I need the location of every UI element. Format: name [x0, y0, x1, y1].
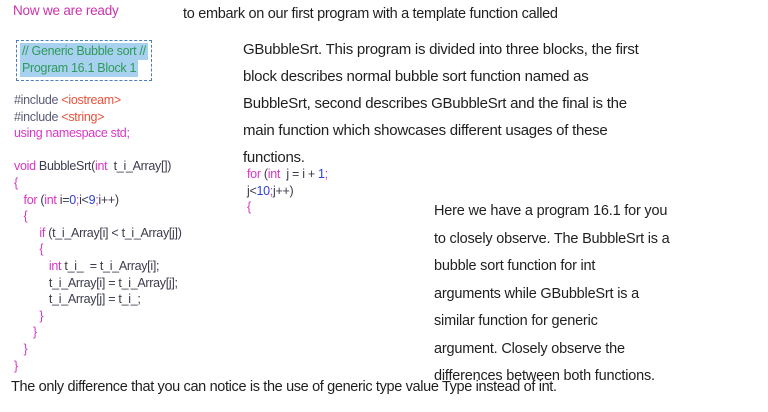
code-token-for-inner-incr: j++) [273, 184, 293, 198]
code-token-for-inner-ten: 10 [256, 184, 269, 198]
code-token-swap-int: int [49, 259, 61, 273]
code-token-for-outer-zero: 0 [69, 193, 76, 207]
code-token-for-outer-incr: i++) [98, 193, 118, 207]
paragraph-observe-line-6: argument. Closely observe the [434, 336, 759, 364]
code-token-include2-keyword: #include [14, 110, 58, 124]
paragraph-observe-line-1: Here we have a program 16.1 for you [434, 198, 759, 226]
code-token-brace-close-4: } [14, 359, 18, 373]
code-token-using-namespace: using namespace std [14, 126, 126, 140]
code-token-void: void [14, 159, 36, 173]
code-token-brace-close-3: } [24, 342, 28, 356]
paragraph-program-blocks: GBubbleSrt. This program is divided into… [243, 36, 759, 171]
code-token-swap-line-1: t_i_ = t_i_Array[i]; [61, 259, 159, 273]
code-comment-selection-box[interactable]: // Generic Bubble sort // Program 16.1 B… [16, 40, 152, 81]
paragraph-blocks-line-1: GBubbleSrt. This program is divided into… [243, 36, 759, 63]
code-token-brace-open-if: { [39, 242, 43, 256]
code-token-if-condition: (t_i_Array[i] < t_i_Array[j]) [45, 226, 182, 240]
paragraph-blocks-line-2: block describes normal bubble sort funct… [243, 63, 759, 90]
code-token-include2-header: <string> [61, 110, 104, 124]
code-token-param-int: int [95, 159, 107, 173]
code-listing-bubblesrt: #include <iostream> #include <string> us… [14, 92, 182, 374]
code-token-for-outer: for [24, 193, 38, 207]
code-token-function-name: BubbleSrt( [36, 159, 95, 173]
code-token-brace-close-2: } [33, 325, 37, 339]
code-token-for-outer-init: i= [57, 193, 70, 207]
code-token-brace-open-function: { [14, 176, 18, 190]
intro-line: to embark on our first program with a te… [183, 6, 753, 22]
code-token-brace-open-for: { [24, 209, 28, 223]
code-token-for-outer-int: int [44, 193, 56, 207]
code-token-param-array: t_i_Array[]) [107, 159, 171, 173]
code-token-using-semicolon: ; [126, 126, 129, 140]
code-token-include1-keyword: #include [14, 93, 58, 107]
paragraph-observe-line-3: bubble sort function for int [434, 253, 759, 281]
code-token-brace-close-1: } [39, 309, 43, 323]
page-heading-now-we-are-ready: Now we are ready [13, 3, 119, 18]
paragraph-closely-observe: Here we have a program 16.1 for you to c… [434, 198, 759, 391]
paragraph-blocks-line-5: functions. [243, 144, 759, 171]
code-token-swap-line-2: t_i_Array[i] = t_i_Array[j]; [49, 276, 178, 290]
code-listing-inner-for-loop: for (int j = i + 1; j<10;j++) { [247, 166, 328, 216]
code-token-for-outer-cond: i< [79, 193, 88, 207]
footer-note: The only difference that you can notice … [11, 379, 759, 395]
comment-line-2: Program 16.1 Block 1 [20, 60, 138, 77]
paragraph-blocks-line-3: BubbleSrt, second describes GBubbleSrt a… [243, 90, 759, 117]
paragraph-observe-line-2: to closely observe. The BubbleSrt is a [434, 226, 759, 254]
paragraph-observe-line-4: arguments while GBubbleSrt is a [434, 281, 759, 309]
code-token-brace-open-inner-for: { [247, 200, 251, 214]
paragraph-observe-line-5: similar function for generic [434, 308, 759, 336]
code-token-include1-header: <iostream> [61, 93, 121, 107]
paragraph-blocks-line-4: main function which showcases different … [243, 117, 759, 144]
comment-line-1: // Generic Bubble sort // [20, 43, 148, 60]
code-token-swap-line-3: t_i_Array[j] = t_i_; [49, 292, 141, 306]
